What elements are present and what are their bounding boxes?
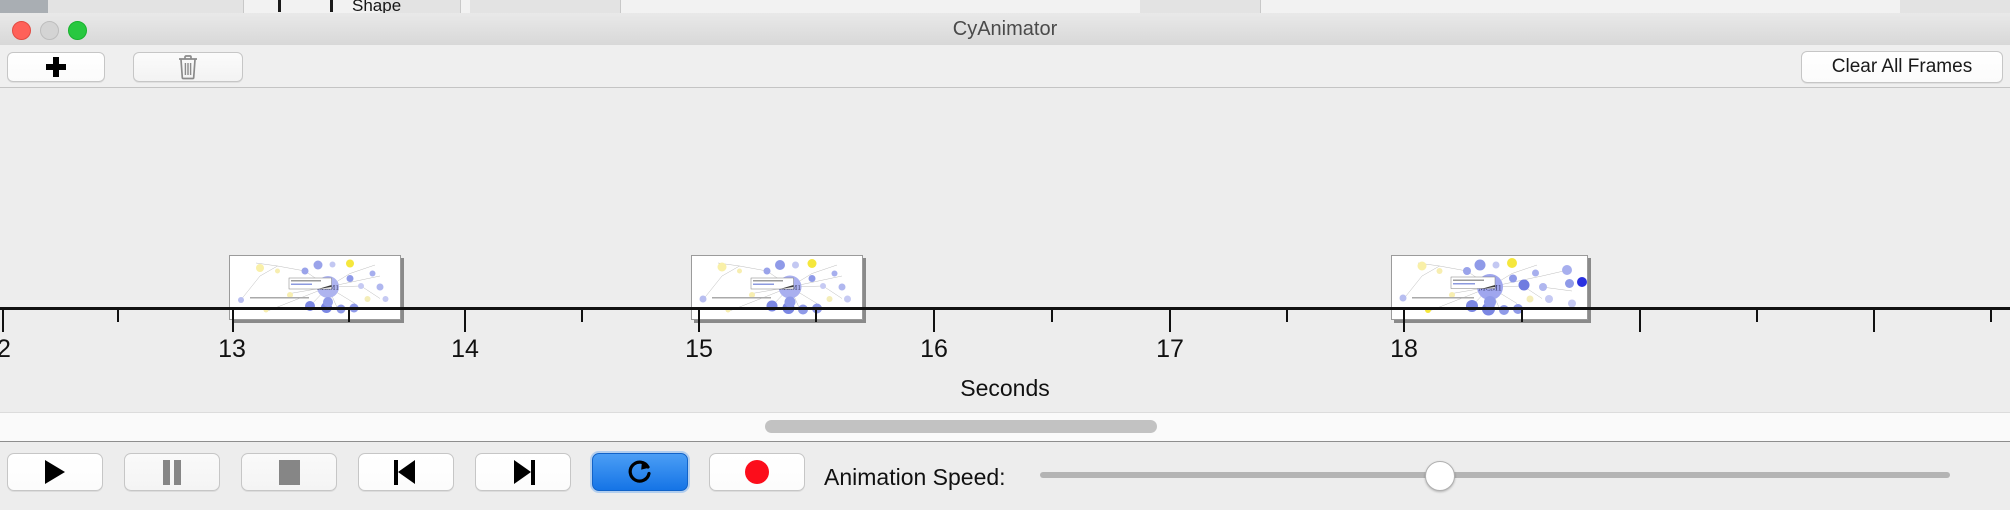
axis-tick-minor (1521, 310, 1523, 322)
stop-icon (279, 460, 300, 485)
bg-tab-a (0, 0, 49, 14)
axis-tick-label: 16 (920, 335, 948, 364)
trash-icon (177, 54, 199, 80)
timeline-panel[interactable]: MCM1 (0, 88, 2010, 412)
axis-tick-major (1873, 310, 1875, 332)
axis-tick-label: 2 (0, 335, 11, 364)
axis-tick-major (1639, 310, 1641, 332)
timeline-axis: 2 13 14 15 16 17 18 Seconds (0, 307, 2010, 412)
record-button[interactable] (709, 453, 805, 491)
previous-frame-button[interactable] (358, 453, 454, 491)
play-button[interactable] (7, 453, 103, 491)
delete-frame-button[interactable] (133, 52, 243, 82)
scrollbar-thumb[interactable] (765, 420, 1157, 433)
window-title: CyAnimator (0, 13, 2010, 45)
bg-mark-2 (330, 0, 333, 12)
clear-all-frames-button[interactable]: Clear All Frames (1801, 51, 2003, 83)
horizontal-scrollbar[interactable] (0, 412, 2010, 443)
axis-tick-minor (815, 310, 817, 322)
axis-tick-label: 13 (218, 335, 246, 364)
plus-icon (46, 57, 66, 77)
record-icon (745, 460, 769, 484)
axis-tick-minor (1051, 310, 1053, 322)
playback-control-bar: Animation Speed: (0, 442, 2010, 510)
bg-window-label: Shape (352, 0, 401, 14)
axis-tick-major (698, 310, 700, 332)
skip-next-icon (511, 460, 535, 485)
axis-tick-minor (581, 310, 583, 322)
axis-tick-major (2, 310, 4, 332)
bg-mark-1 (278, 0, 281, 12)
axis-tick-major (464, 310, 466, 332)
bg-tab-c (188, 0, 244, 14)
play-icon (45, 460, 65, 484)
title-bar: CyAnimator (0, 13, 2010, 46)
axis-tick-minor (1286, 310, 1288, 322)
axis-tick-major (1169, 310, 1171, 332)
animation-speed-slider-thumb[interactable] (1425, 461, 1455, 491)
axis-tick-minor (1756, 310, 1758, 322)
axis-tick-major (232, 310, 234, 332)
loop-icon (626, 458, 654, 486)
pause-button[interactable] (124, 453, 220, 491)
frame-toolbar: Clear All Frames (0, 45, 2010, 88)
background-window-strip: Shape (0, 0, 2010, 14)
pause-icon (162, 460, 182, 485)
axis-line (0, 307, 2010, 310)
skip-previous-icon (394, 460, 418, 485)
next-frame-button[interactable] (475, 453, 571, 491)
bg-tab-g (1900, 0, 2010, 14)
axis-tick-minor (117, 310, 119, 322)
axis-tick-label: 15 (685, 335, 713, 364)
axis-tick-major (1403, 310, 1405, 332)
cyanimator-window: Shape CyAnimator Clear All Frames (0, 0, 2010, 510)
animation-speed-slider[interactable] (1040, 472, 1950, 478)
loop-button[interactable] (592, 453, 688, 491)
bg-tab-f (1140, 0, 1261, 14)
axis-title: Seconds (0, 375, 2010, 402)
add-frame-button[interactable] (7, 52, 105, 82)
axis-tick-label: 14 (451, 335, 479, 364)
axis-tick-minor (348, 310, 350, 322)
stop-button[interactable] (241, 453, 337, 491)
axis-tick-minor (1990, 310, 1992, 322)
animation-speed-label: Animation Speed: (824, 464, 1006, 491)
axis-tick-label: 18 (1390, 335, 1418, 364)
bg-tab-b (48, 0, 189, 14)
axis-tick-label: 17 (1156, 335, 1184, 364)
axis-tick-major (933, 310, 935, 332)
bg-tab-e (470, 0, 621, 14)
